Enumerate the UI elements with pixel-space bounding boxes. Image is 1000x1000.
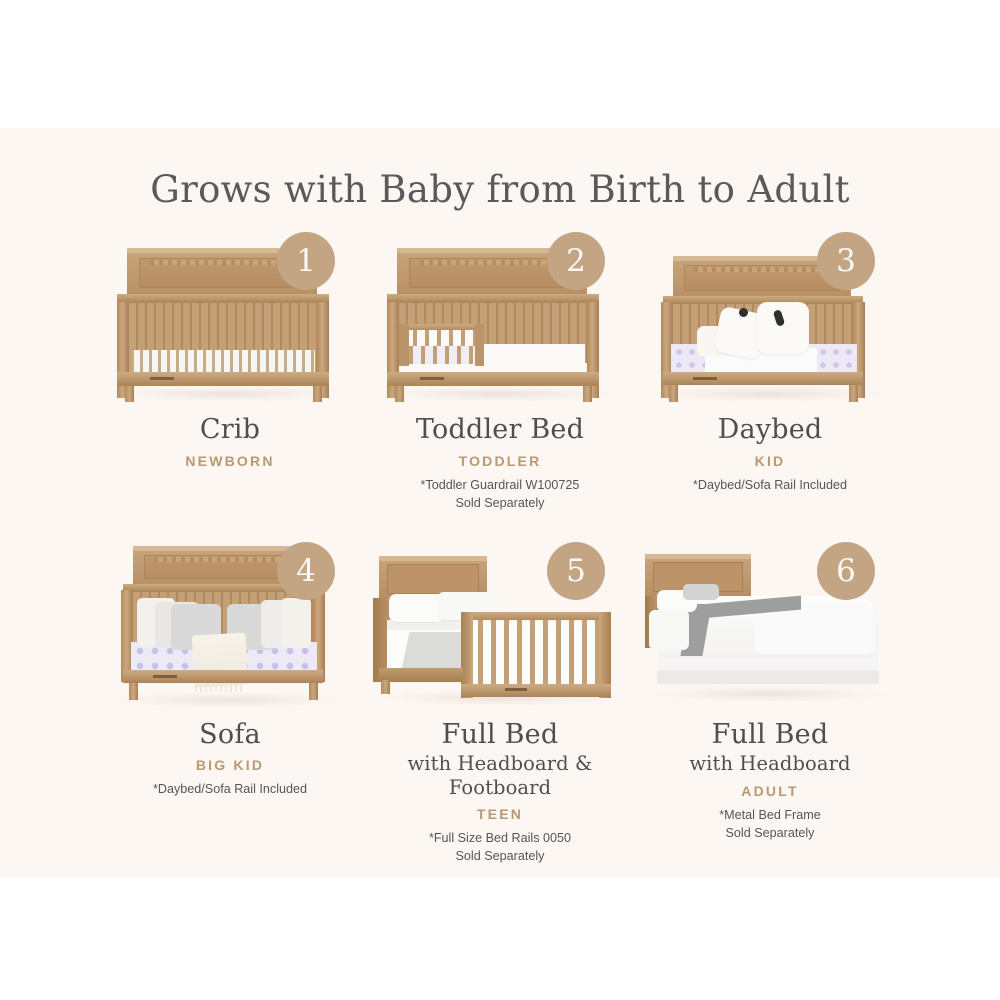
full-bed-hb-art-wrap: 6 [635, 528, 905, 713]
stage-badge-1: 1 [277, 232, 335, 290]
full-bed-hb-labels: Full Bed with Headboard ADULT *Metal Bed… [635, 713, 905, 843]
stage-age-tag-6: ADULT [635, 783, 905, 799]
stage-age-tag-5: TEEN [365, 806, 635, 822]
daybed-labels: Daybed KID *Daybed/Sofa Rail Included [635, 408, 905, 495]
stage-row-2: 4 [0, 528, 1000, 866]
toddler-bed-labels: Toddler Bed TODDLER *Toddler Guardrail W… [365, 408, 635, 513]
daybed-art-wrap: 3 [635, 218, 905, 408]
stage-card-daybed[interactable]: 3 [635, 218, 905, 513]
stage-name-3: Daybed [635, 415, 905, 446]
stage-badge-6: 6 [817, 542, 875, 600]
crib-art-wrap: 1 [95, 218, 365, 408]
stage-badge-4: 4 [277, 542, 335, 600]
stage-note-3: *Daybed/Sofa Rail Included [635, 477, 905, 495]
full-bed-hb-fb-labels: Full Bed with Headboard & Footboard TEEN… [365, 713, 635, 866]
stage-card-sofa[interactable]: 4 [95, 528, 365, 866]
crib-labels: Crib NEWBORN [95, 408, 365, 469]
stage-name-6: Full Bed [635, 720, 905, 751]
stage-badge-2: 2 [547, 232, 605, 290]
sofa-art-wrap: 4 [95, 528, 365, 713]
stage-badge-5: 5 [547, 542, 605, 600]
stage-card-crib[interactable]: 1 [95, 218, 365, 513]
stage-name-2: Toddler Bed [365, 415, 635, 446]
full-bed-hb-fb-art-wrap: 5 [365, 528, 635, 713]
page-title: Grows with Baby from Birth to Adult [0, 168, 1000, 211]
stage-note-2: *Toddler Guardrail W100725 Sold Separate… [365, 477, 635, 513]
stage-card-full-bed-hb[interactable]: 6 [635, 528, 905, 866]
stage-age-tag-1: NEWBORN [95, 453, 365, 469]
stage-age-tag-4: BIG KID [95, 757, 365, 773]
stage-note-4: *Daybed/Sofa Rail Included [95, 781, 365, 799]
stage-note-6: *Metal Bed Frame Sold Separately [635, 807, 905, 843]
stage-subtitle-5: with Headboard & Footboard [365, 752, 635, 799]
stage-card-toddler-bed[interactable]: 2 [365, 218, 635, 513]
stage-name-5: Full Bed [365, 720, 635, 751]
stage-grid: 1 [0, 218, 1000, 866]
toddler-bed-art-wrap: 2 [365, 218, 635, 408]
stage-age-tag-2: TODDLER [365, 453, 635, 469]
stage-card-full-bed-hb-fb[interactable]: 5 [365, 528, 635, 866]
stage-note-5: *Full Size Bed Rails 0050 Sold Separatel… [365, 830, 635, 866]
infographic-canvas: Grows with Baby from Birth to Adult 1 [0, 0, 1000, 1000]
stage-subtitle-6: with Headboard [635, 752, 905, 775]
stage-row-1: 1 [0, 218, 1000, 513]
sofa-labels: Sofa BIG KID *Daybed/Sofa Rail Included [95, 713, 365, 800]
stage-badge-3: 3 [817, 232, 875, 290]
stage-age-tag-3: KID [635, 453, 905, 469]
stage-name-1: Crib [95, 415, 365, 446]
stage-name-4: Sofa [95, 720, 365, 751]
